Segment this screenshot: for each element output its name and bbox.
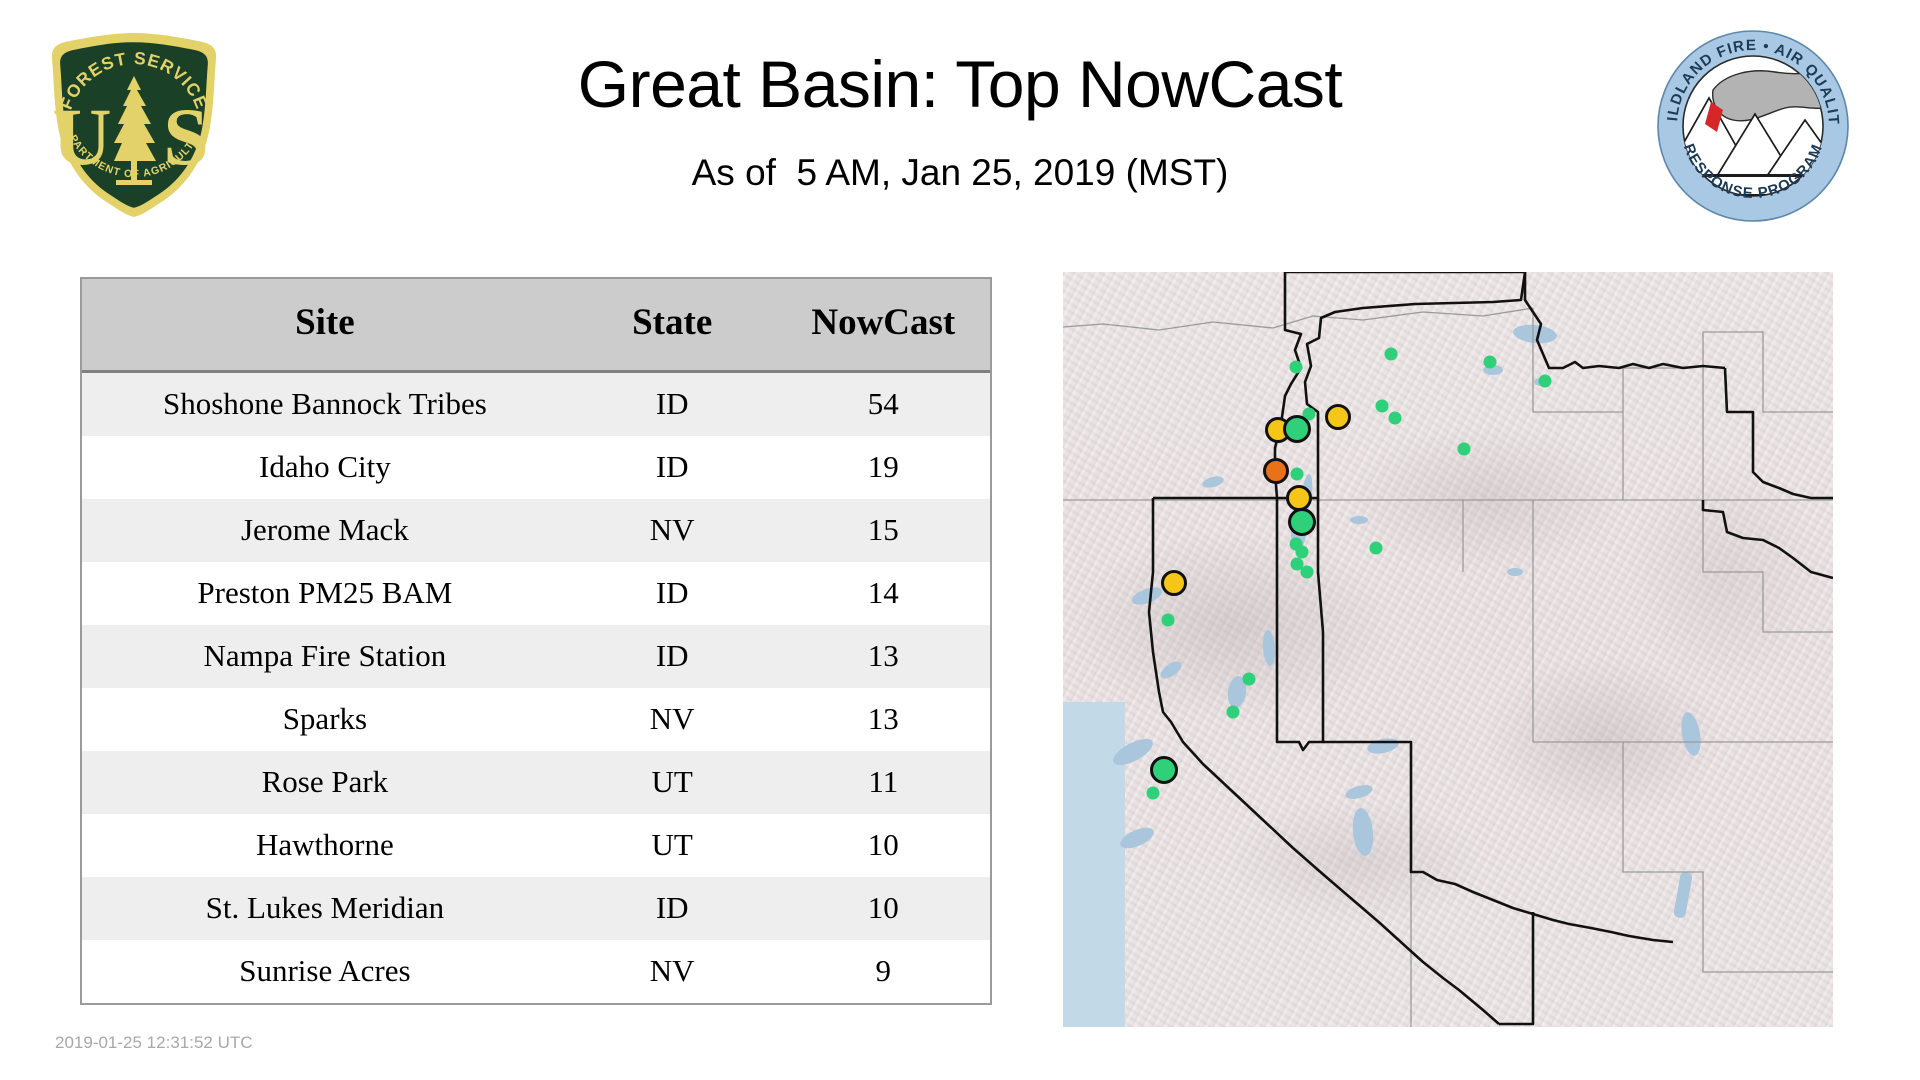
monitor-marker-good-green[interactable] <box>1283 415 1311 443</box>
monitor-marker-good-green[interactable] <box>1243 673 1256 686</box>
column-header-state: State <box>568 279 777 372</box>
state-cell: UT <box>568 751 777 814</box>
state-cell: ID <box>568 562 777 625</box>
site-cell: Sunrise Acres <box>82 940 568 1003</box>
table-header-row: Site State NowCast <box>82 279 990 372</box>
site-cell: Hawthorne <box>82 814 568 877</box>
monitor-marker-good-green[interactable] <box>1290 361 1303 374</box>
monitor-marker-good-green[interactable] <box>1539 375 1552 388</box>
site-cell: Sparks <box>82 688 568 751</box>
site-cell: Idaho City <box>82 436 568 499</box>
site-cell: Shoshone Bannock Tribes <box>82 372 568 437</box>
monitor-marker-usg-orange[interactable] <box>1263 458 1289 484</box>
monitor-marker-good-green[interactable] <box>1150 756 1178 784</box>
page-subtitle: As of 5 AM, Jan 25, 2019 (MST) <box>0 152 1920 194</box>
monitor-marker-good-green[interactable] <box>1370 542 1383 555</box>
state-cell: ID <box>568 372 777 437</box>
column-header-site: Site <box>82 279 568 372</box>
monitor-marker-good-green[interactable] <box>1385 348 1398 361</box>
state-cell: NV <box>568 499 777 562</box>
nowcast-cell: 9 <box>777 940 990 1003</box>
monitor-marker-good-green[interactable] <box>1147 787 1160 800</box>
monitor-marker-good-green[interactable] <box>1162 614 1175 627</box>
state-cell: ID <box>568 877 777 940</box>
table-row: SparksNV13 <box>82 688 990 751</box>
site-cell: St. Lukes Meridian <box>82 877 568 940</box>
table-row: Nampa Fire StationID13 <box>82 625 990 688</box>
monitor-marker-moderate-yellow[interactable] <box>1325 404 1351 430</box>
monitor-marker-moderate-yellow[interactable] <box>1161 570 1187 596</box>
state-cell: UT <box>568 814 777 877</box>
page-title: Great Basin: Top NowCast <box>0 48 1920 121</box>
nowcast-cell: 10 <box>777 814 990 877</box>
nowcast-table: Site State NowCast Shoshone Bannock Trib… <box>80 277 992 1005</box>
monitor-marker-moderate-yellow[interactable] <box>1286 485 1312 511</box>
table-row: Shoshone Bannock TribesID54 <box>82 372 990 437</box>
monitor-marker-good-green[interactable] <box>1458 443 1471 456</box>
site-cell: Preston PM25 BAM <box>82 562 568 625</box>
map-state-borders-layer <box>1063 272 1833 1027</box>
table-row: St. Lukes MeridianID10 <box>82 877 990 940</box>
monitor-marker-good-green[interactable] <box>1301 566 1314 579</box>
nowcast-cell: 13 <box>777 688 990 751</box>
footer-timestamp: 2019-01-25 12:31:52 UTC <box>55 1033 253 1053</box>
state-cell: ID <box>568 436 777 499</box>
state-cell: NV <box>568 940 777 1003</box>
monitor-marker-good-green[interactable] <box>1376 400 1389 413</box>
monitor-marker-good-green[interactable] <box>1389 412 1402 425</box>
column-header-nowcast: NowCast <box>777 279 990 372</box>
nowcast-cell: 14 <box>777 562 990 625</box>
table-row: Preston PM25 BAMID14 <box>82 562 990 625</box>
nowcast-cell: 11 <box>777 751 990 814</box>
monitor-marker-good-green[interactable] <box>1484 356 1497 369</box>
great-basin-monitor-map[interactable] <box>1063 272 1833 1027</box>
monitor-marker-good-green[interactable] <box>1288 508 1316 536</box>
site-cell: Nampa Fire Station <box>82 625 568 688</box>
monitor-marker-good-green[interactable] <box>1227 706 1240 719</box>
nowcast-cell: 54 <box>777 372 990 437</box>
slide-edge-artifact <box>0 36 14 46</box>
nowcast-cell: 19 <box>777 436 990 499</box>
table-row: Idaho CityID19 <box>82 436 990 499</box>
site-cell: Jerome Mack <box>82 499 568 562</box>
nowcast-cell: 10 <box>777 877 990 940</box>
table-row: Jerome MackNV15 <box>82 499 990 562</box>
site-cell: Rose Park <box>82 751 568 814</box>
state-cell: NV <box>568 688 777 751</box>
monitor-marker-good-green[interactable] <box>1291 468 1304 481</box>
table-row: Sunrise AcresNV9 <box>82 940 990 1003</box>
nowcast-cell: 15 <box>777 499 990 562</box>
nowcast-cell: 13 <box>777 625 990 688</box>
table-row: Rose ParkUT11 <box>82 751 990 814</box>
monitor-marker-good-green[interactable] <box>1296 546 1309 559</box>
table-row: HawthorneUT10 <box>82 814 990 877</box>
state-cell: ID <box>568 625 777 688</box>
